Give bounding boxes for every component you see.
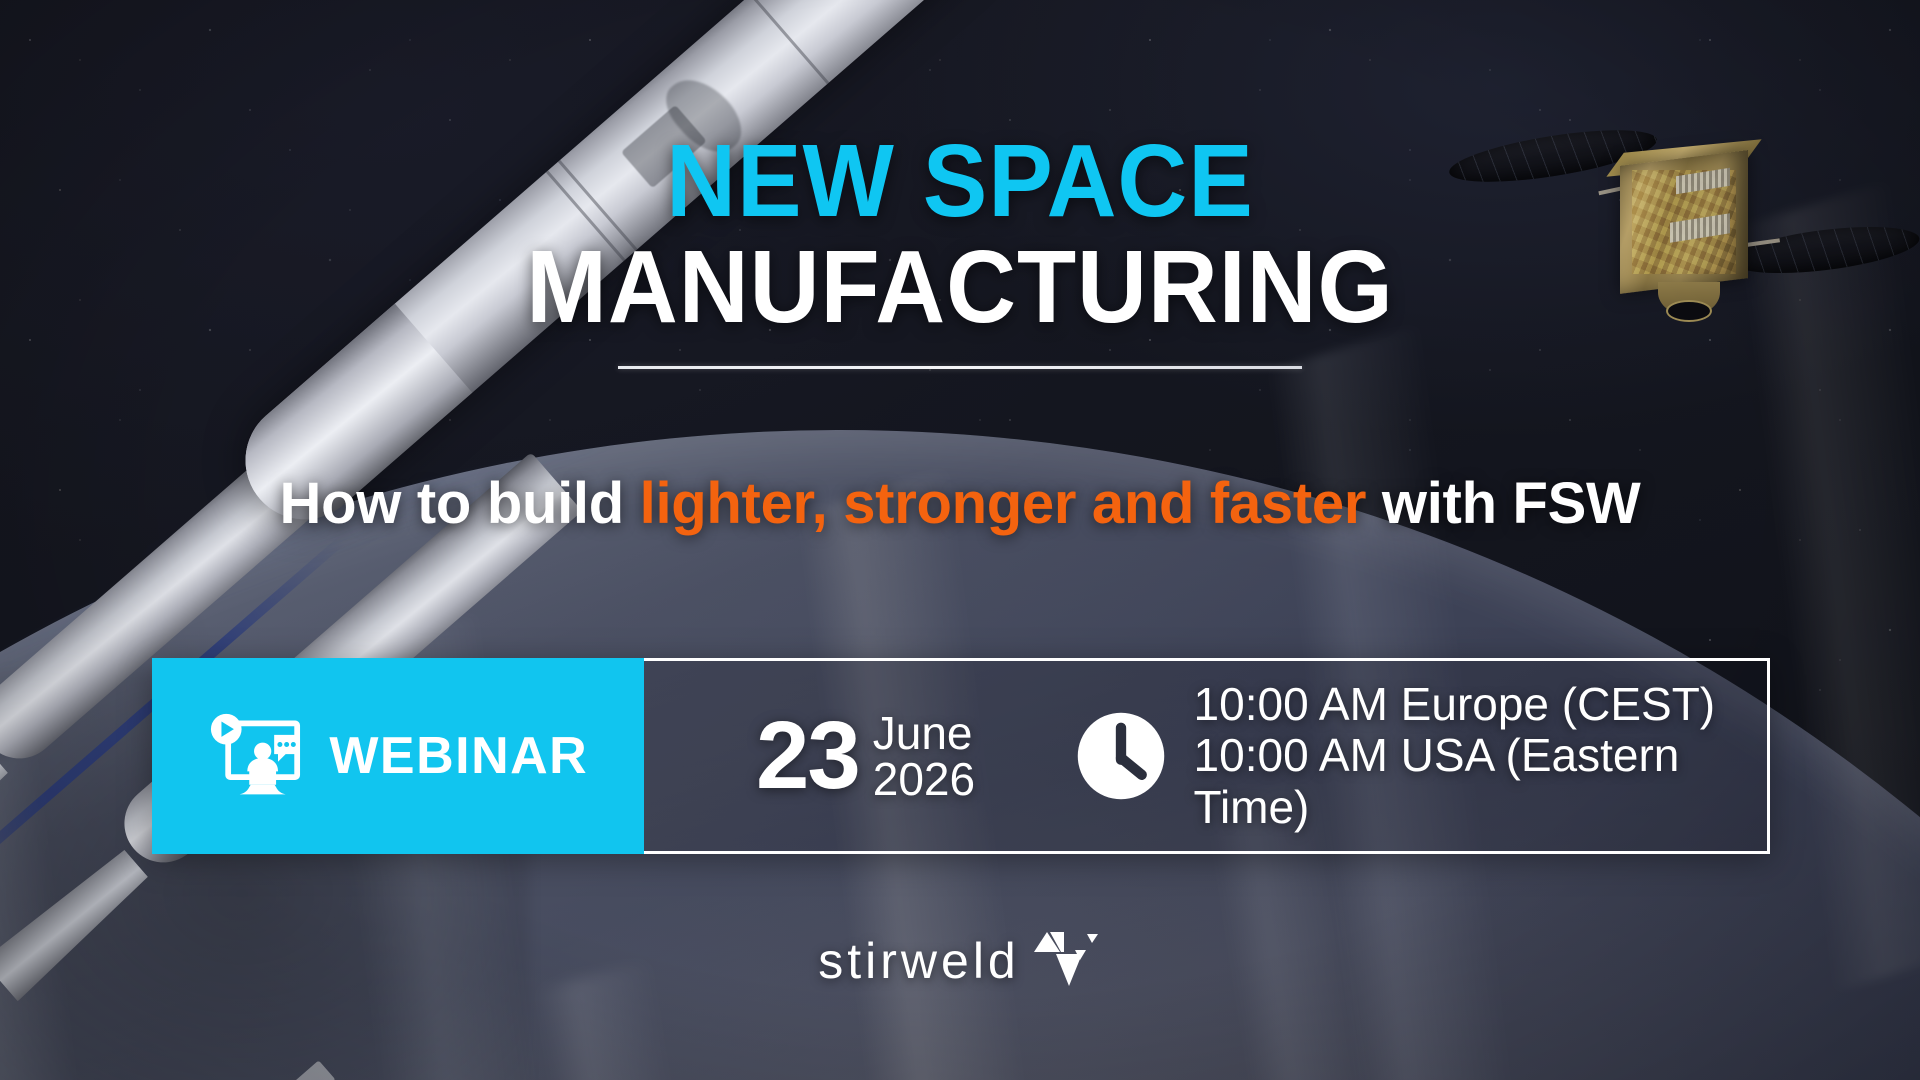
webinar-promo-banner: NEW SPACE MANUFACTURING How to build lig… — [0, 0, 1920, 1080]
webinar-info-bar: WEBINAR 23 June 2026 10:00 AM Europe (CE… — [152, 658, 1770, 854]
stirweld-logo[interactable]: stirweld — [0, 930, 1920, 992]
subtitle-prefix: How to build — [280, 471, 640, 536]
title-divider — [618, 366, 1302, 369]
date-day: 23 — [756, 712, 859, 800]
webinar-label: WEBINAR — [329, 726, 588, 786]
rocket-ring-c — [750, 0, 830, 84]
time-line-europe: 10:00 AM Europe (CEST) — [1194, 679, 1767, 731]
subtitle-suffix: with FSW — [1366, 471, 1640, 536]
headline-block: NEW SPACE MANUFACTURING — [0, 128, 1920, 369]
subtitle: How to build lighter, stronger and faste… — [0, 470, 1920, 537]
time-line-usa: 10:00 AM USA (Eastern Time) — [1194, 730, 1767, 833]
date-year: 2026 — [873, 756, 975, 802]
webinar-time: 10:00 AM Europe (CEST) 10:00 AM USA (Eas… — [1064, 661, 1767, 851]
date-month: June — [873, 710, 975, 756]
logo-wordmark: stirweld — [818, 932, 1019, 990]
title-line-1: NEW SPACE — [58, 128, 1863, 233]
clock-icon — [1074, 709, 1168, 803]
webinar-date: 23 June 2026 — [644, 661, 1064, 851]
date-month-year: June 2026 — [873, 710, 975, 802]
webinar-badge[interactable]: WEBINAR — [152, 658, 644, 854]
stirweld-triangles-icon — [1030, 930, 1102, 992]
webinar-screen-icon — [207, 710, 303, 802]
title-line-2: MANUFACTURING — [58, 233, 1863, 340]
time-list: 10:00 AM Europe (CEST) 10:00 AM USA (Eas… — [1194, 679, 1767, 834]
subtitle-highlight: lighter, stronger and faster — [640, 471, 1366, 536]
